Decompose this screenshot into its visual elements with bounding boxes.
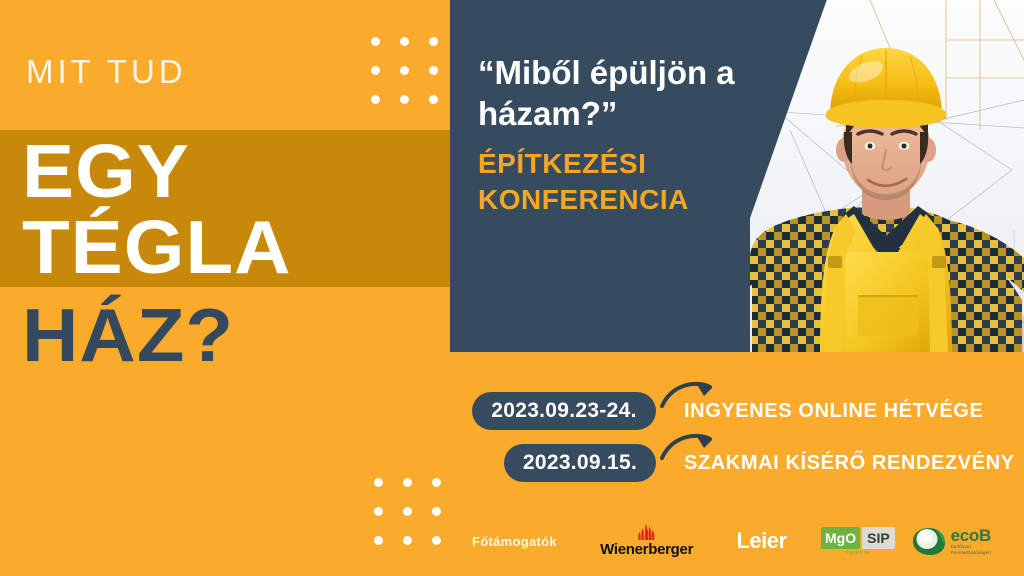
- event-row: 2023.09.15. SZAKMAI KÍSÉRŐ RENDEZVÉNY: [472, 444, 1024, 488]
- kicker-text: MIT TUD: [26, 53, 187, 91]
- logo-wienerberger: Wienerberger: [594, 524, 699, 558]
- dot: [432, 478, 441, 487]
- dot: [429, 95, 438, 104]
- conference-title-panel: “Miből épüljön a házam?” ÉPÍTKEZÉSI KONF…: [450, 0, 1024, 352]
- sponsor-label: Főtámogatók: [472, 534, 586, 549]
- dot: [403, 536, 412, 545]
- event-row: 2023.09.23-24. INGYENES ONLINE HÉTVÉGE: [472, 392, 1024, 436]
- dot-grid-icon: [371, 37, 438, 104]
- leaf-sphere-icon: [912, 526, 946, 556]
- dot: [403, 478, 412, 487]
- dot: [429, 66, 438, 75]
- logo-mgosip-row: MgO SIP: [821, 527, 895, 549]
- event-label: INGYENES ONLINE HÉTVÉGE: [684, 400, 983, 423]
- logo-mgosip: MgO SIP mgosip.hu: [820, 527, 896, 556]
- event-date-badge: 2023.09.15.: [504, 444, 656, 482]
- dot: [371, 66, 380, 75]
- dot: [432, 536, 441, 545]
- dot: [429, 37, 438, 46]
- conference-quote: “Miből épüljön a házam?”: [478, 52, 808, 134]
- dot: [371, 95, 380, 104]
- dot: [374, 478, 383, 487]
- dot: [432, 507, 441, 516]
- promo-banner: MIT TUD EGY TÉGLA HÁZ? “Miből épüljön a …: [0, 0, 1024, 576]
- dot: [400, 95, 409, 104]
- logo-ecob-name: ecoB: [951, 527, 992, 544]
- logo-mgosip-sub: mgosip.hu: [845, 550, 870, 556]
- event-list: 2023.09.23-24. INGYENES ONLINE HÉTVÉGE 2…: [472, 392, 1024, 496]
- headline-line-2: HÁZ?: [22, 297, 234, 373]
- sponsor-bar: Főtámogatók Wienerberger Leier MgO SIP m…: [472, 516, 1024, 566]
- logo-mgosip-mgo: MgO: [821, 527, 860, 549]
- logo-ecob: ecoB Építőipari Fenntarthatóságért: [912, 526, 1024, 556]
- dot: [374, 536, 383, 545]
- headline-line-1: EGY TÉGLA: [22, 133, 467, 285]
- logo-mgosip-sip: SIP: [862, 527, 895, 549]
- event-label: SZAKMAI KÍSÉRŐ RENDEZVÉNY: [684, 452, 1015, 475]
- dot: [400, 66, 409, 75]
- flame-icon: [637, 524, 657, 540]
- dot: [371, 37, 380, 46]
- logo-wienerberger-text: Wienerberger: [594, 541, 699, 558]
- dot-grid-icon: [374, 478, 441, 545]
- dot: [400, 37, 409, 46]
- logo-ecob-sub-2: Fenntarthatóságért: [951, 550, 992, 556]
- logo-leier: Leier: [717, 528, 806, 554]
- dot: [374, 507, 383, 516]
- logo-ecob-text-block: ecoB Építőipari Fenntarthatóságért: [951, 527, 992, 555]
- dot: [403, 507, 412, 516]
- event-date-badge: 2023.09.23-24.: [472, 392, 656, 430]
